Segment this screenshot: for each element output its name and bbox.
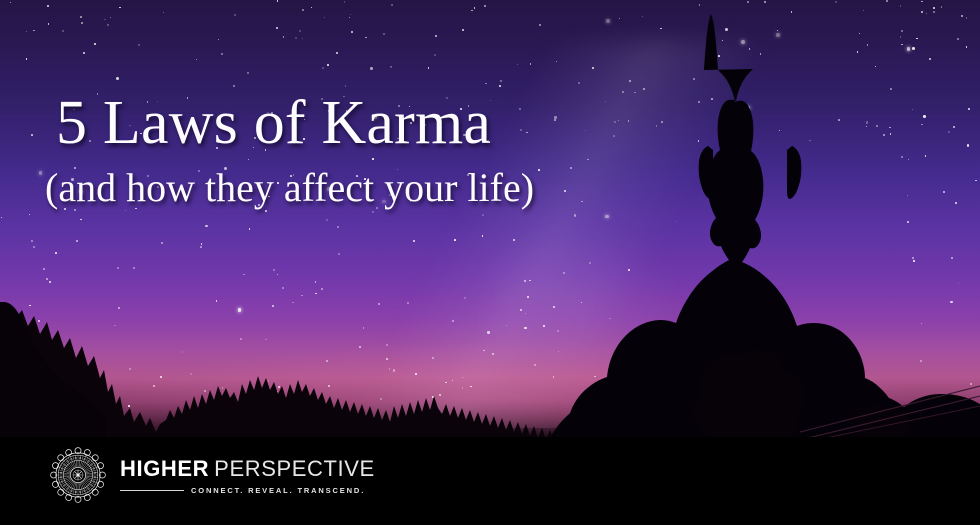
logo-tagline-row: CONNECT. REVEAL. TRANSCEND. xyxy=(120,486,375,495)
logo-word-perspective: PERSPECTIVE xyxy=(214,456,375,481)
headline-block: 5 Laws of Karma (and how they affect you… xyxy=(56,92,656,209)
tagline-rule xyxy=(120,490,184,491)
logo-tagline: CONNECT. REVEAL. TRANSCEND. xyxy=(191,486,365,495)
page-subtitle: (and how they affect your life) xyxy=(45,167,656,209)
logo-text-block: HIGHERPERSPECTIVE CONNECT. REVEAL. TRANS… xyxy=(120,456,375,495)
power-lines xyxy=(790,370,980,440)
logo-wordmark: HIGHERPERSPECTIVE xyxy=(120,458,375,480)
karma-banner: 5 Laws of Karma (and how they affect you… xyxy=(0,0,980,525)
brand-logo[interactable]: HIGHERPERSPECTIVE CONNECT. REVEAL. TRANS… xyxy=(50,447,375,503)
page-title: 5 Laws of Karma xyxy=(56,92,656,155)
logo-word-higher: HIGHER xyxy=(120,456,209,481)
mandala-icon xyxy=(50,447,106,503)
